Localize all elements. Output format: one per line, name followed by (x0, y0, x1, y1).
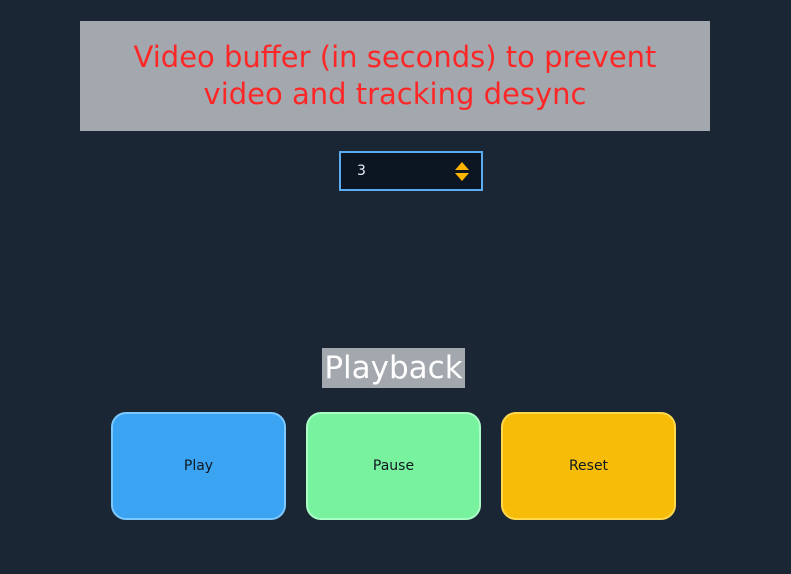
pause-button[interactable]: Pause (306, 412, 481, 520)
spinbox-arrows (449, 153, 481, 189)
playback-section-label: Playback (322, 348, 465, 388)
play-button-label: Play (184, 458, 213, 474)
buffer-description-banner: Video buffer (in seconds) to prevent vid… (80, 21, 710, 131)
buffer-description-line-1: Video buffer (in seconds) to prevent (134, 39, 657, 76)
app-window: Video buffer (in seconds) to prevent vid… (0, 0, 791, 574)
chevron-up-icon[interactable] (455, 162, 469, 170)
reset-button[interactable]: Reset (501, 412, 676, 520)
play-button[interactable]: Play (111, 412, 286, 520)
video-buffer-spinbox[interactable]: 3 (339, 151, 483, 191)
chevron-down-icon[interactable] (455, 173, 469, 181)
pause-button-label: Pause (373, 458, 414, 474)
video-buffer-input[interactable]: 3 (341, 163, 449, 179)
reset-button-label: Reset (569, 458, 608, 474)
buffer-description-line-2: video and tracking desync (204, 76, 587, 113)
